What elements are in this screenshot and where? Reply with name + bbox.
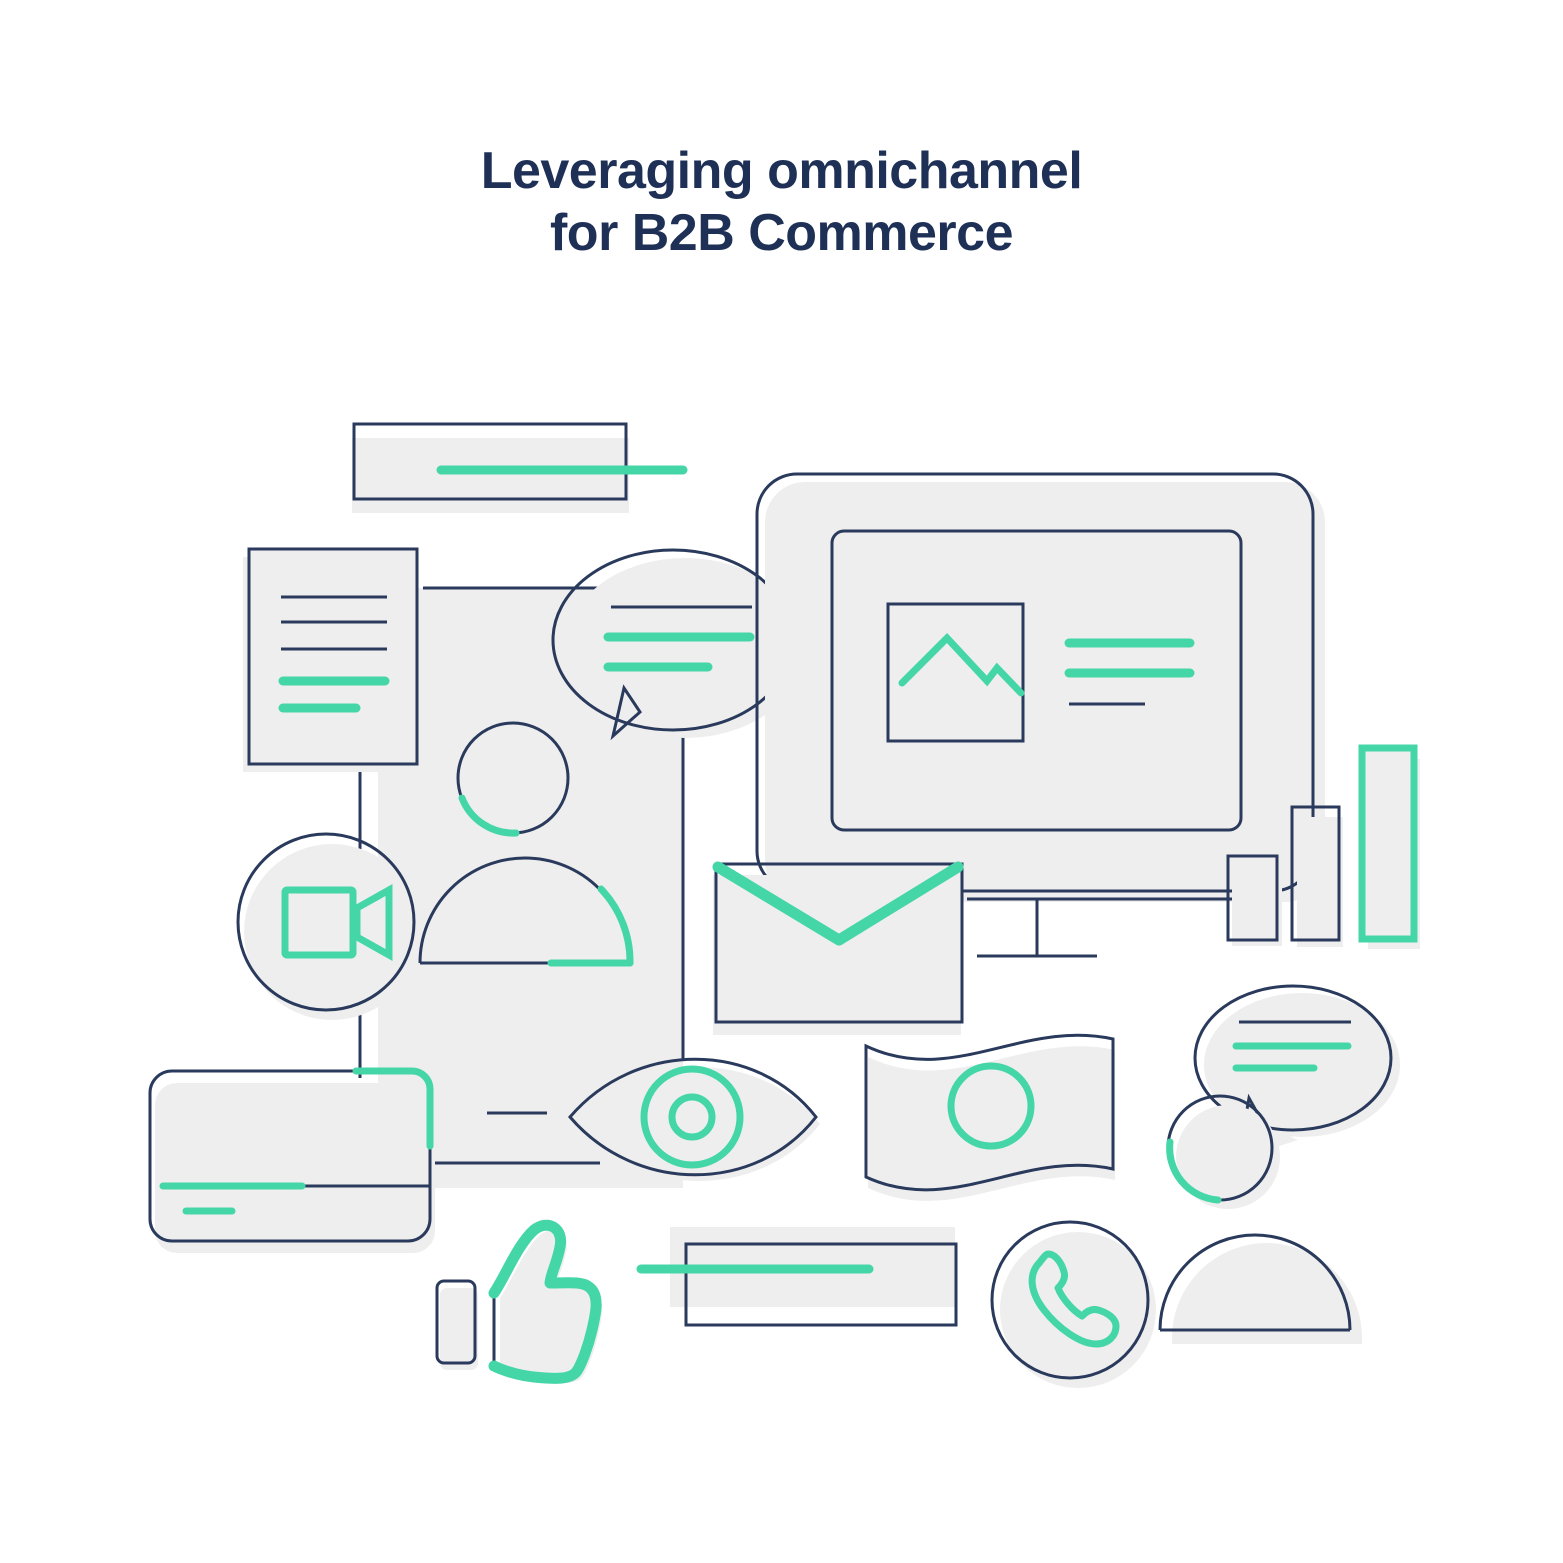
top-banner-rect [352,424,683,513]
user-avatar-right [1160,1235,1362,1344]
credit-card [150,1071,435,1253]
page-root: Leveraging omnichannel for B2B Commerce … [0,0,1563,1563]
thumbs-up [437,1225,602,1383]
envelope [713,864,962,1035]
banknote [866,1035,1115,1201]
document-card [243,549,417,772]
bottom-banner-rect [641,1227,956,1325]
phone-badge [992,1222,1156,1388]
omnichannel-illustration: .nv { fill:none; stroke:#2a3a5c; stroke-… [0,0,1563,1563]
